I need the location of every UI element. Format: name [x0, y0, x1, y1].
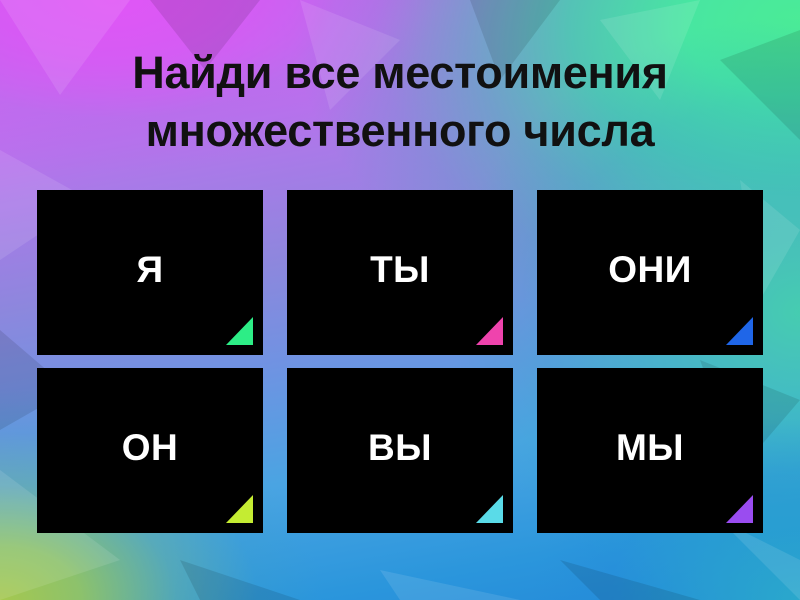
answer-card-label: ОНИ	[608, 251, 692, 288]
triangle-corner-icon	[226, 317, 253, 345]
answer-card[interactable]: Я	[37, 190, 263, 355]
triangle-corner-icon	[476, 317, 503, 345]
answer-card-label: МЫ	[616, 429, 684, 466]
triangle-corner-icon	[226, 495, 253, 523]
answer-card[interactable]: ОНИ	[537, 190, 763, 355]
triangle-corner-icon	[476, 495, 503, 523]
triangle-corner-icon	[726, 495, 753, 523]
answer-card[interactable]: ОН	[37, 368, 263, 533]
answer-card-grid: Я ТЫ ОНИ ОН ВЫ МЫ	[37, 190, 764, 533]
answer-card[interactable]: ВЫ	[287, 368, 513, 533]
page-title: Найди все местоимения множественного чис…	[0, 44, 800, 159]
answer-card-label: ОН	[122, 429, 179, 466]
answer-card[interactable]: ТЫ	[287, 190, 513, 355]
answer-card-label: ТЫ	[370, 251, 430, 288]
answer-card-label: Я	[136, 251, 163, 288]
answer-card[interactable]: МЫ	[537, 368, 763, 533]
answer-card-label: ВЫ	[368, 429, 432, 466]
triangle-corner-icon	[726, 317, 753, 345]
